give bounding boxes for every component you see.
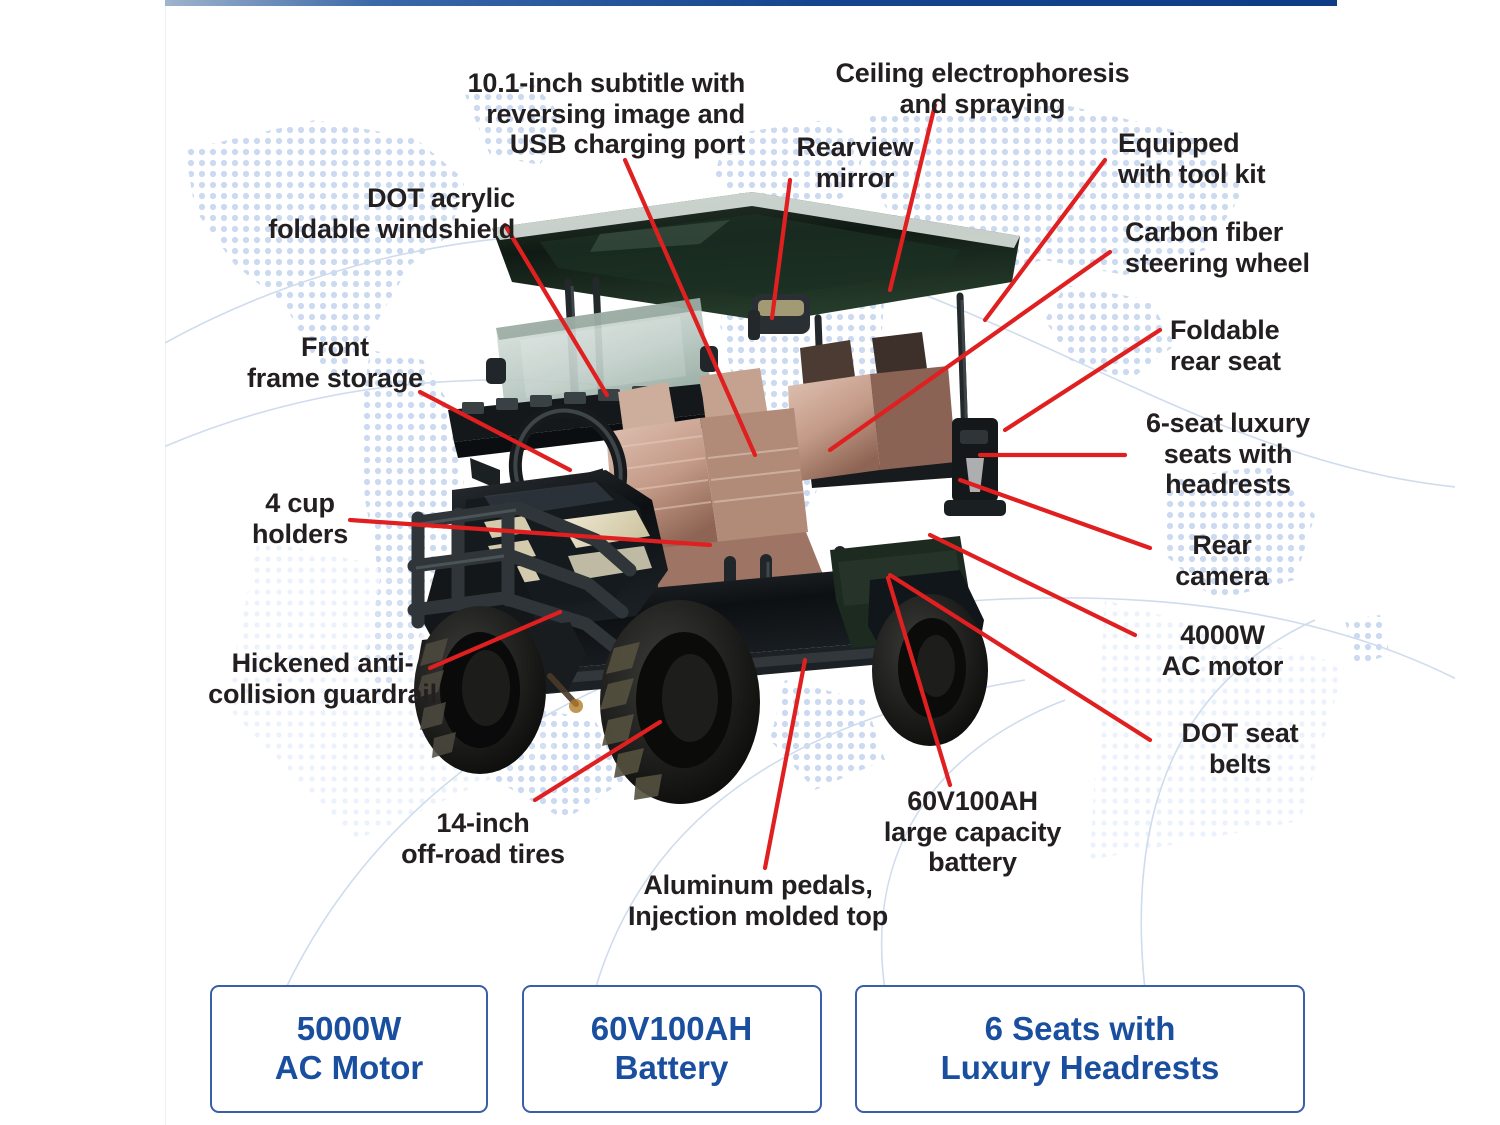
callout-cup-holders: 4 cup holders: [230, 488, 370, 549]
feature-box-motor[interactable]: 5000W AC Motor: [210, 985, 488, 1113]
callout-windshield: DOT acrylic foldable windshield: [225, 183, 515, 244]
callout-luxury-seats: 6-seat luxury seats with headrests: [1128, 408, 1328, 500]
callout-guardrail: Hickened anti- collision guardrail: [195, 648, 450, 709]
callout-rear-camera: Rear camera: [1152, 530, 1292, 591]
callout-foldable-rear-seat: Foldable rear seat: [1170, 315, 1390, 376]
infographic-canvas: 10.1-inch subtitle with reversing image …: [0, 0, 1500, 1125]
feature-box-seats[interactable]: 6 Seats with Luxury Headrests: [855, 985, 1305, 1113]
feature-box-seats-label: 6 Seats with Luxury Headrests: [941, 1010, 1220, 1088]
feature-box-battery-label: 60V100AH Battery: [591, 1010, 752, 1088]
callout-steering-wheel: Carbon fiber steering wheel: [1125, 217, 1375, 278]
callout-ceiling-coating: Ceiling electrophoresis and spraying: [820, 58, 1145, 119]
callout-rearview-mirror: Rearview mirror: [760, 132, 950, 193]
feature-spec-row: 5000W AC Motor 60V100AH Battery 6 Seats …: [210, 985, 1305, 1113]
feature-box-battery[interactable]: 60V100AH Battery: [522, 985, 822, 1113]
callout-pedals: Aluminum pedals, Injection molded top: [608, 870, 908, 931]
callout-battery: 60V100AH large capacity battery: [875, 786, 1070, 878]
callout-tool-kit: Equipped with tool kit: [1118, 128, 1348, 189]
feature-box-motor-label: 5000W AC Motor: [275, 1010, 423, 1088]
callout-ac-motor: 4000W AC motor: [1140, 620, 1305, 681]
callout-subtitle-display: 10.1-inch subtitle with reversing image …: [400, 68, 745, 160]
callout-tires: 14-inch off-road tires: [378, 808, 588, 869]
callout-front-storage: Front frame storage: [235, 332, 435, 393]
callout-seat-belts: DOT seat belts: [1155, 718, 1325, 779]
